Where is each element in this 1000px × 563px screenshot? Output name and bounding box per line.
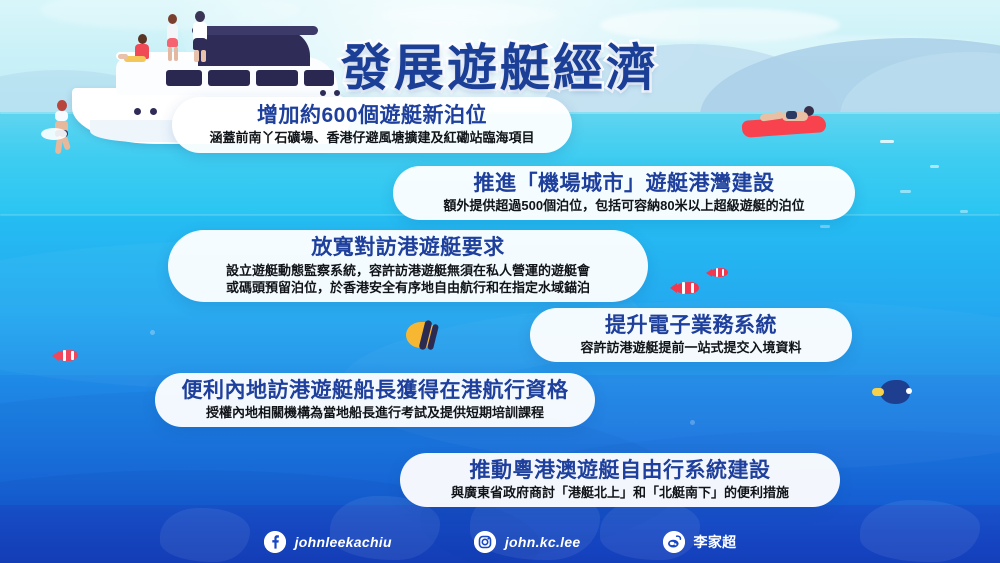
facebook-icon (264, 531, 286, 553)
water-sparkle (930, 165, 939, 168)
yacht-porthole (134, 108, 141, 115)
policy-card-headline: 增加約600個遊艇新泊位 (257, 104, 487, 128)
policy-card-1[interactable]: 增加約600個遊艇新泊位 涵蓋前南丫石礦場、香港仔避風塘擴建及紅磡站臨海項目 (172, 97, 572, 153)
weibo-handle: 李家超 (694, 532, 737, 552)
cloud-shape (380, 4, 560, 26)
policy-card-5[interactable]: 便利內地訪港遊艇船長獲得在港航行資格 授權內地相關機構為當地船長進行考試及提供短… (155, 373, 595, 427)
water-sparkle (690, 420, 695, 425)
policy-card-subline: 容許訪港遊艇提前一站式提交入境資料 (580, 339, 801, 356)
policy-card-4[interactable]: 提升電子業務系統 容許訪港遊艇提前一站式提交入境資料 (530, 308, 852, 362)
policy-card-subline: 或碼頭預留泊位，於香港安全有序地自由航行和在指定水域錨泊 (226, 279, 590, 296)
water-sparkle (900, 190, 911, 193)
policy-card-3[interactable]: 放寬對訪港遊艇要求 設立遊艇動態監察系統，容許訪港遊艇無須在私人營運的遊艇會 或… (168, 230, 648, 302)
policy-card-headline: 便利內地訪港遊艇船長獲得在港航行資格 (182, 379, 569, 403)
social-item-instagram[interactable]: john.kc.lee (474, 531, 581, 553)
policy-card-subline: 授權內地相關機構為當地船長進行考試及提供短期培訓課程 (206, 404, 544, 421)
instagram-handle: john.kc.lee (505, 534, 581, 550)
policy-card-6[interactable]: 推動粵港澳遊艇自由行系統建設 與廣東省政府商討「港艇北上」和「北艇南下」的便利措… (400, 453, 840, 507)
social-bar: johnleekachiu john.kc.lee (0, 525, 1000, 559)
policy-card-2[interactable]: 推進「機場城市」遊艇港灣建設 額外提供超過500個泊位，包括可容納80米以上超級… (393, 166, 855, 220)
yacht-porthole (150, 108, 157, 115)
poster-canvas: 發展遊艇經濟 增加約600個遊艇新泊位 涵蓋前南丫石礦場、香港仔避風塘擴建及紅磡… (0, 0, 1000, 563)
water-sparkle (960, 210, 968, 213)
water-sparkle (150, 330, 155, 335)
policy-card-headline: 推動粵港澳遊艇自由行系統建設 (470, 459, 771, 483)
poster-title: 發展遊艇經濟 (0, 28, 1000, 100)
policy-card-subline: 額外提供超過500個泊位，包括可容納80米以上超級遊艇的泊位 (443, 197, 804, 214)
social-item-weibo[interactable]: 李家超 (663, 531, 737, 553)
policy-card-subline: 設立遊艇動態監察系統，容許訪港遊艇無須在私人營運的遊艇會 (226, 262, 590, 279)
social-item-facebook[interactable]: johnleekachiu (264, 531, 392, 553)
instagram-icon (474, 531, 496, 553)
policy-card-subline: 涵蓋前南丫石礦場、香港仔避風塘擴建及紅磡站臨海項目 (209, 129, 534, 146)
policy-card-headline: 放寬對訪港遊艇要求 (311, 236, 505, 260)
water-sparkle (880, 140, 894, 143)
facebook-handle: johnleekachiu (295, 534, 392, 550)
policy-card-headline: 提升電子業務系統 (605, 314, 777, 338)
policy-card-subline: 與廣東省政府商討「港艇北上」和「北艇南下」的便利措施 (451, 484, 789, 501)
weibo-icon (663, 531, 685, 553)
policy-card-headline: 推進「機場城市」遊艇港灣建設 (474, 172, 775, 196)
water-sparkle (820, 225, 830, 228)
